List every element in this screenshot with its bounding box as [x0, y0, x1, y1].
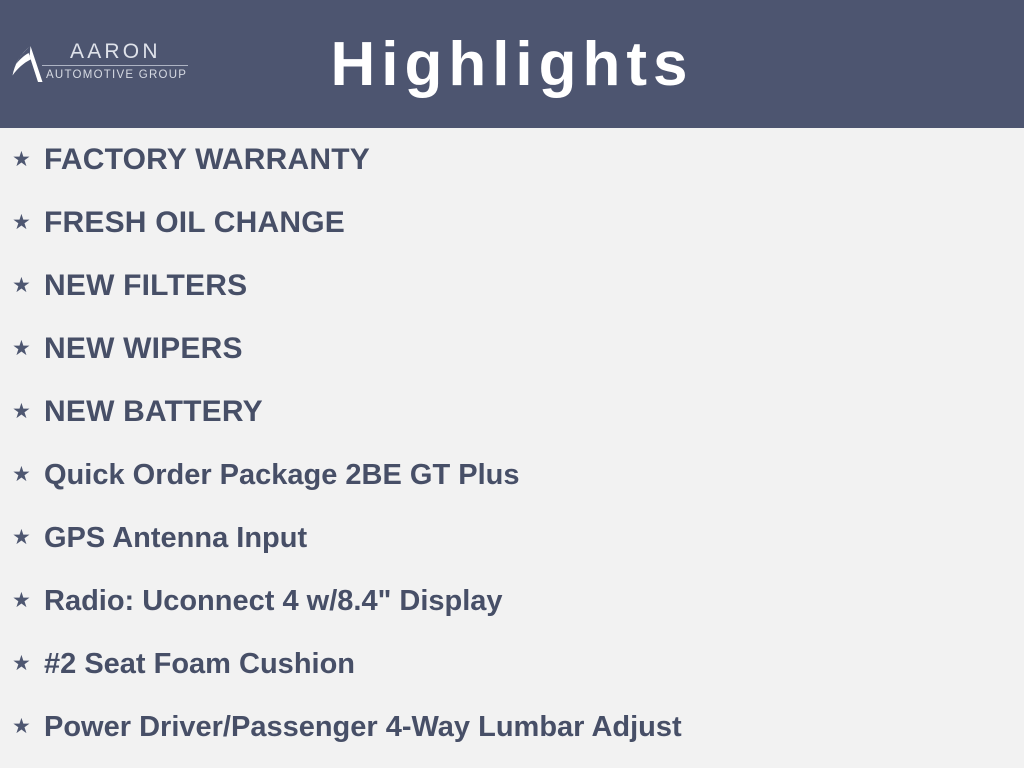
list-item-label: FRESH OIL CHANGE — [44, 206, 345, 240]
highlights-list: ★ FACTORY WARRANTY ★ FRESH OIL CHANGE ★ … — [0, 128, 1024, 768]
list-item: ★ Radio: Uconnect 4 w/8.4" Display — [0, 569, 1024, 632]
list-item-label: GPS Antenna Input — [44, 521, 307, 555]
list-item: ★ NEW WIPERS — [0, 317, 1024, 380]
list-item: ★ NEW FILTERS — [0, 254, 1024, 317]
list-item: ★ #2 Seat Foam Cushion — [0, 632, 1024, 695]
star-icon: ★ — [12, 149, 44, 170]
star-icon: ★ — [12, 527, 44, 548]
list-item-label: #2 Seat Foam Cushion — [44, 647, 355, 681]
list-item-label: Quick Order Package 2BE GT Plus — [44, 458, 519, 492]
list-item-label: FACTORY WARRANTY — [44, 143, 370, 177]
star-icon: ★ — [12, 275, 44, 296]
page-title: Highlights — [0, 30, 1024, 100]
star-icon: ★ — [12, 464, 44, 485]
star-icon: ★ — [12, 338, 44, 359]
star-icon: ★ — [12, 212, 44, 233]
list-item-label: NEW FILTERS — [44, 269, 247, 303]
list-item: ★ NEW BATTERY — [0, 380, 1024, 443]
star-icon: ★ — [12, 401, 44, 422]
list-item: ★ Quick Order Package 2BE GT Plus — [0, 443, 1024, 506]
star-icon: ★ — [12, 590, 44, 611]
list-item: ★ FACTORY WARRANTY — [0, 128, 1024, 191]
list-item-label: Power Driver/Passenger 4-Way Lumbar Adju… — [44, 710, 682, 744]
list-item-label: NEW WIPERS — [44, 332, 243, 366]
list-item: ★ Power Driver/Passenger 4-Way Lumbar Ad… — [0, 695, 1024, 758]
list-item: ★ GPS Antenna Input — [0, 506, 1024, 569]
list-item-label: Radio: Uconnect 4 w/8.4" Display — [44, 584, 503, 618]
star-icon: ★ — [12, 716, 44, 737]
list-item-label: NEW BATTERY — [44, 395, 263, 429]
highlights-slide: AARON AUTOMOTIVE GROUP Highlights ★ FACT… — [0, 0, 1024, 768]
star-icon: ★ — [12, 653, 44, 674]
list-item: ★ FRESH OIL CHANGE — [0, 191, 1024, 254]
